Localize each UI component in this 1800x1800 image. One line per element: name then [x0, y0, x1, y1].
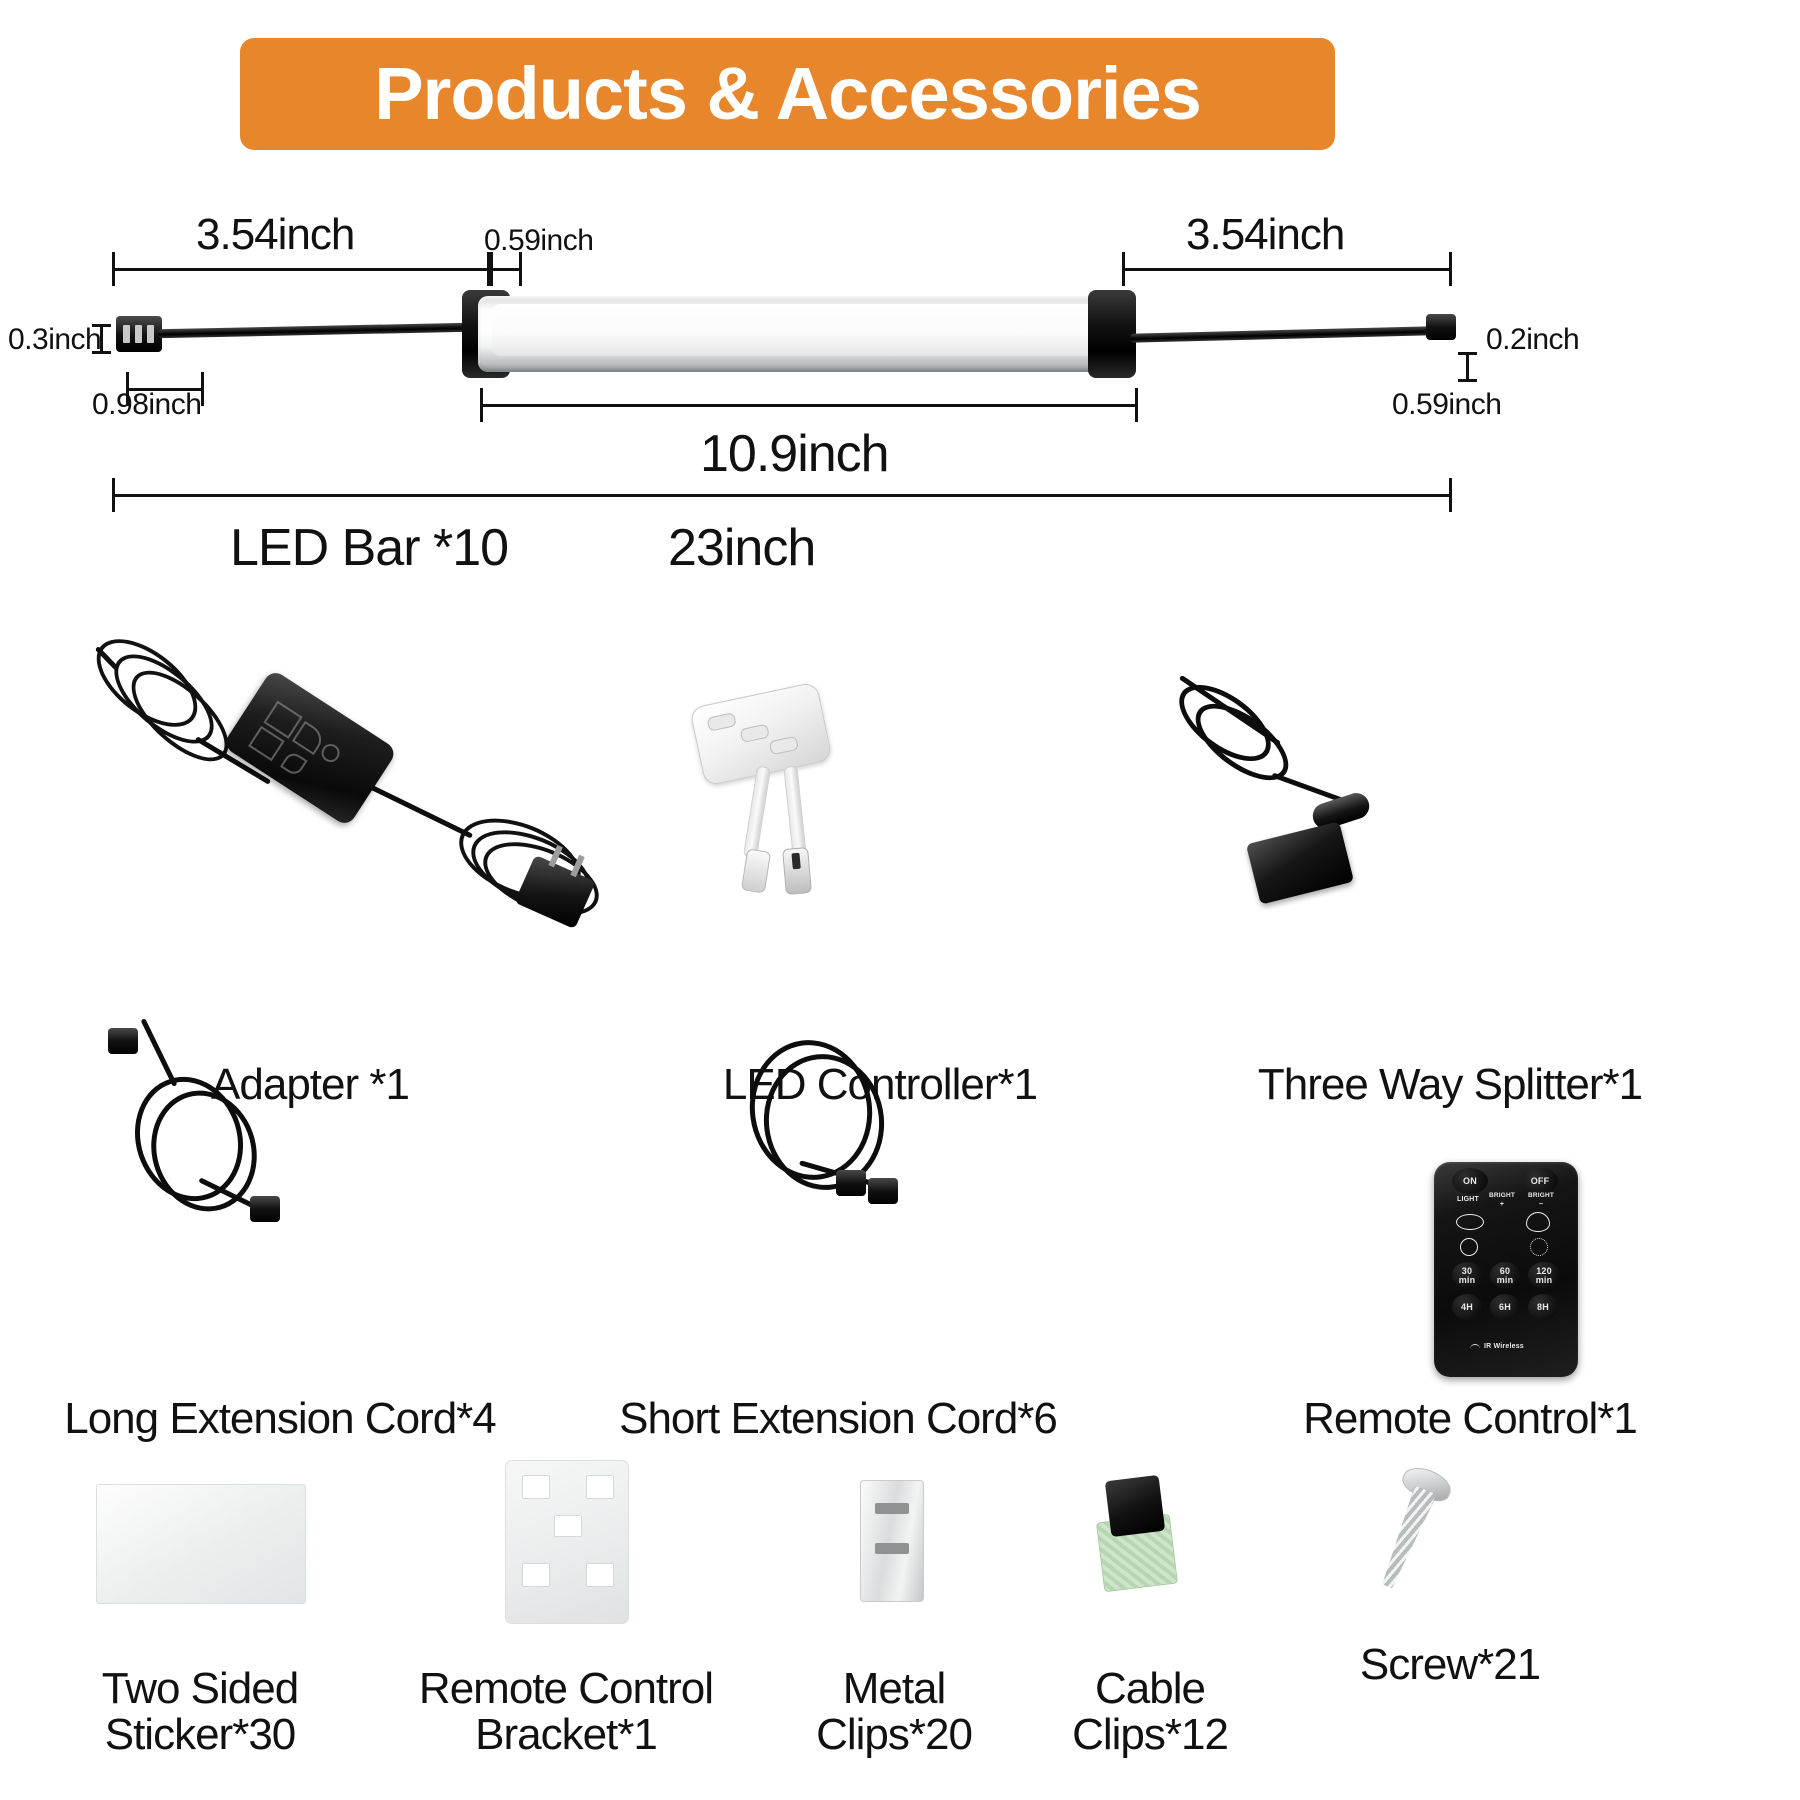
dimension-label-connector-width: 0.98inch	[92, 388, 201, 422]
long-cord-connector-bottom	[250, 1196, 280, 1222]
splitter-body	[1246, 821, 1354, 904]
remote-key-8h-label: 8H	[1528, 1303, 1558, 1312]
warm-light-icon[interactable]	[1456, 1214, 1484, 1230]
wifi-ir-icon	[1470, 1344, 1480, 1353]
long-extension-cord-label: Long Extension Cord*4	[0, 1396, 560, 1442]
dimension-label-right-cord: 3.54inch	[1186, 210, 1344, 260]
led-controller-output-cable-b	[783, 766, 806, 857]
long-cord-connector-top	[108, 1028, 138, 1054]
led-bar-illustration	[100, 288, 1480, 388]
long-extension-cord-illustration	[100, 1020, 400, 1250]
led-controller-output-cable-a	[743, 765, 771, 858]
cable-clips-illustration	[1100, 1472, 1174, 1598]
screw-shaft	[1376, 1486, 1437, 1591]
three-way-splitter-illustration	[1160, 690, 1460, 920]
dimension-ibeam-right-connector-height	[1466, 352, 1469, 382]
short-extension-cord-illustration	[740, 1030, 1040, 1250]
dimension-rule-bar-length	[480, 404, 1138, 407]
remote-key-off-label: OFF	[1522, 1177, 1558, 1186]
sun-dim-icon[interactable]	[1530, 1238, 1548, 1256]
metal-clips-illustration	[860, 1480, 924, 1602]
led-controller-jack-female	[741, 848, 771, 893]
cool-light-icon[interactable]	[1526, 1212, 1550, 1232]
metal-clip-slot-bottom	[875, 1543, 909, 1554]
remote-control-bracket-illustration	[505, 1460, 629, 1624]
short-cord-connector-b	[868, 1178, 898, 1204]
led-controller-button-power[interactable]	[706, 712, 736, 732]
remote-key-30min-label: 30 min	[1452, 1267, 1482, 1285]
remote-key-120min-label: 120 min	[1528, 1267, 1560, 1285]
led-controller-button-dim-up[interactable]	[740, 724, 770, 744]
bracket-slot-bottom-right	[586, 1563, 614, 1587]
adapter-illustration	[60, 630, 620, 920]
bracket-slot-top	[522, 1475, 550, 1499]
sun-bright-icon[interactable]	[1460, 1238, 1478, 1256]
bracket-slot-mid	[554, 1515, 582, 1537]
led-bar-left-wire	[158, 323, 468, 338]
led-bar-dimension-diagram: 3.54inch 0.59inch 0.3inch 0.2inch 3.54in…	[0, 0, 1800, 600]
led-bar-right-wire	[1130, 326, 1432, 342]
dimension-label-left-cord: 3.54inch	[196, 210, 354, 260]
dimension-label-bar-length: 10.9inch	[700, 424, 889, 484]
bracket-slot-top-right	[586, 1475, 614, 1499]
metal-clip-slot-top	[875, 1503, 909, 1514]
led-bar-item-label: LED Bar *10	[230, 518, 508, 578]
long-cord-segment-top	[141, 1018, 178, 1087]
led-controller-jack-male	[782, 847, 812, 895]
dimension-rule-total-length	[112, 494, 1452, 497]
remote-key-bright-plus-sign: +	[1482, 1201, 1522, 1208]
led-bar-diffuser	[492, 304, 1104, 356]
short-extension-cord-label: Short Extension Cord*6	[578, 1396, 1098, 1442]
dimension-label-right-connector-height: 0.2inch	[1486, 323, 1579, 357]
dimension-label-right-gap: 0.59inch	[1392, 388, 1501, 422]
adapter-ac-cord	[360, 800, 630, 930]
dimension-rule-left-gap	[490, 268, 522, 271]
led-bar-right-connector	[1426, 314, 1456, 340]
remote-key-4h-label: 4H	[1452, 1303, 1482, 1312]
remote-key-6h-label: 6H	[1490, 1303, 1520, 1312]
dimension-rule-right-cord	[1122, 268, 1452, 271]
remote-key-60min-label: 60 min	[1490, 1267, 1520, 1285]
dimension-label-left-gap: 0.59inch	[484, 224, 593, 258]
three-way-splitter-label: Three Way Splitter*1	[1120, 1062, 1780, 1108]
remote-footer-label: IR Wireless	[1484, 1343, 1552, 1350]
cable-clip-hook	[1105, 1475, 1165, 1537]
dimension-label-total-length: 23inch	[668, 518, 815, 578]
led-controller-illustration	[660, 680, 1000, 920]
remote-control-label: Remote Control*1	[1150, 1396, 1790, 1442]
dimension-rule-left-cord	[112, 268, 490, 271]
remote-key-bright-minus-label: BRIGHT	[1520, 1193, 1562, 1200]
short-cord-connector-a	[836, 1170, 866, 1196]
remote-key-bright-minus-sign: −	[1520, 1201, 1562, 1208]
remote-key-on-label: ON	[1452, 1177, 1488, 1186]
two-sided-sticker-label: Two Sided Sticker*30	[70, 1666, 330, 1758]
metal-clips-label: Metal Clips*20	[790, 1666, 998, 1758]
cable-clips-label: Cable Clips*12	[1046, 1666, 1254, 1758]
remote-control-bracket-label: Remote Control Bracket*1	[398, 1666, 734, 1758]
led-controller-button-dim-down[interactable]	[769, 736, 799, 756]
bracket-slot-bottom	[522, 1563, 550, 1587]
remote-control-illustration[interactable]: ON OFF LIGHT BRIGHT + BRIGHT − 30 min 60…	[1434, 1162, 1578, 1377]
dimension-label-connector-height: 0.3inch	[8, 323, 101, 357]
led-bar-right-endcap	[1088, 290, 1136, 378]
remote-key-bright-plus-label: BRIGHT	[1482, 1193, 1522, 1200]
two-sided-sticker-illustration	[96, 1484, 306, 1604]
screw-illustration	[1400, 1470, 1452, 1598]
screw-label: Screw*21	[1320, 1642, 1580, 1688]
led-bar-left-connector	[116, 316, 162, 352]
